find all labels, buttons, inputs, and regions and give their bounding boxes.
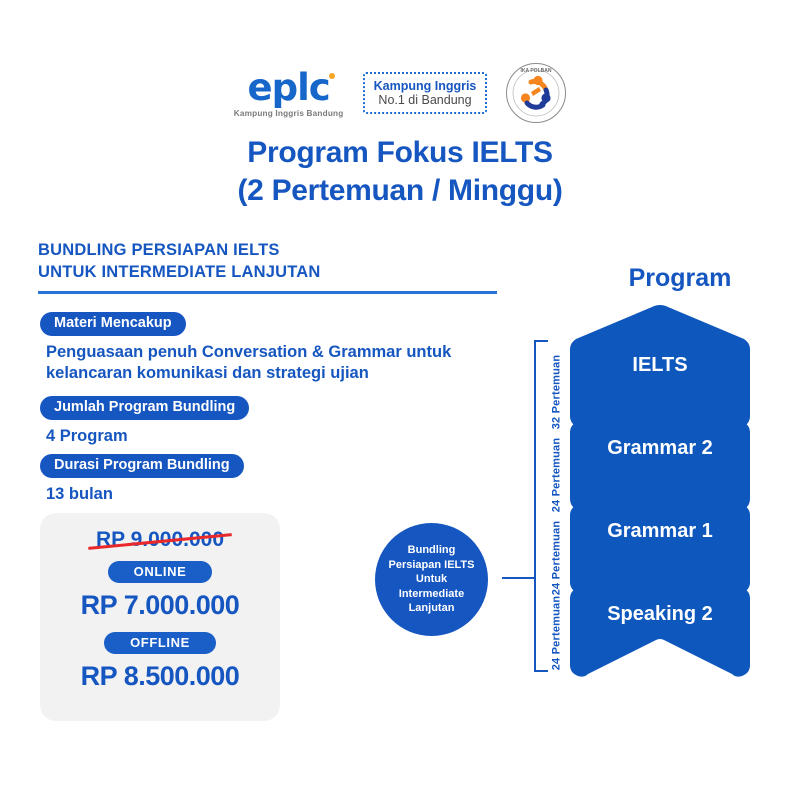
online-price: RP 7.000.000 xyxy=(81,590,240,621)
online-badge: ONLINE xyxy=(108,561,213,583)
bundle-circle: Bundling Persiapan IELTS Untuk Intermedi… xyxy=(375,523,488,636)
chevron-label-grammar-1: Grammar 1 xyxy=(562,520,758,543)
eplc-dot-icon xyxy=(329,73,335,79)
old-price: RP 9.000.000 xyxy=(96,529,224,550)
section-heading: BUNDLING PERSIAPAN IELTS UNTUK INTERMEDI… xyxy=(38,240,508,284)
bundle-circle-line-4: Intermediate xyxy=(389,587,475,602)
chevron-speaking-2[interactable]: Speaking 2 xyxy=(562,554,758,679)
info-text-durasi: 13 bulan xyxy=(46,484,360,506)
info-text-materi: Penguasaan penuh Conversation & Grammar … xyxy=(46,342,500,386)
logo-row: eplc Kampung Inggris Bandung Kampung Ing… xyxy=(0,58,800,128)
section-heading-line1: BUNDLING PERSIAPAN IELTS xyxy=(38,240,508,262)
ika-polban-logo: IKA POLBAN xyxy=(505,62,567,124)
info-pill-materi: Materi Mencakup xyxy=(40,312,186,336)
bundle-circle-line-1: Bundling xyxy=(389,543,475,558)
chevron-label-speaking-2: Speaking 2 xyxy=(562,603,758,626)
page-title: Program Fokus IELTS (2 Pertemuan / Mingg… xyxy=(0,134,800,211)
chevron-label-grammar-2: Grammar 2 xyxy=(562,437,758,460)
program-chevron-stack: IELTS Grammar 2 Grammar 1 Speaking 2 xyxy=(562,305,762,680)
bundle-circle-line-2: Persiapan IELTS xyxy=(389,558,475,573)
program-title: Program xyxy=(560,264,800,293)
info-text-jumlah: 4 Program xyxy=(46,426,360,448)
info-pill-durasi: Durasi Program Bundling xyxy=(40,454,244,478)
eplc-wordmark-text: eplc xyxy=(248,66,330,109)
page-title-line2: (2 Pertemuan / Minggu) xyxy=(0,172,800,210)
offline-price: RP 8.500.000 xyxy=(81,661,240,692)
bracket-connector-line xyxy=(502,577,536,579)
info-block-jumlah: Jumlah Program Bundling 4 Program xyxy=(40,396,360,447)
info-pill-jumlah: Jumlah Program Bundling xyxy=(40,396,249,420)
eplc-wordmark: eplc xyxy=(248,69,330,106)
bundle-circle-line-5: Lanjutan xyxy=(389,601,475,616)
kampung-inggris-line1: Kampung Inggris xyxy=(374,79,477,93)
bundle-circle-text: Bundling Persiapan IELTS Untuk Intermedi… xyxy=(389,543,475,616)
bundle-circle-line-3: Untuk xyxy=(389,572,475,587)
section-divider xyxy=(38,291,497,294)
eplc-logo: eplc Kampung Inggris Bandung xyxy=(233,69,345,118)
eplc-tagline: Kampung Inggris Bandung xyxy=(234,109,344,118)
kampung-inggris-line2: No.1 di Bandung xyxy=(374,93,477,107)
info-block-durasi: Durasi Program Bundling 13 bulan xyxy=(40,454,360,505)
polban-ring-text: IKA POLBAN xyxy=(521,68,552,74)
chevron-label-ielts: IELTS xyxy=(562,354,758,377)
info-block-materi: Materi Mencakup Penguasaan penuh Convers… xyxy=(40,312,500,385)
page-title-line1: Program Fokus IELTS xyxy=(0,134,800,172)
section-heading-line2: UNTUK INTERMEDIATE LANJUTAN xyxy=(38,262,508,284)
offline-badge: OFFLINE xyxy=(104,632,216,654)
price-card: RP 9.000.000 ONLINE RP 7.000.000 OFFLINE… xyxy=(40,513,280,721)
kampung-inggris-badge: Kampung Inggris No.1 di Bandung xyxy=(363,72,488,115)
